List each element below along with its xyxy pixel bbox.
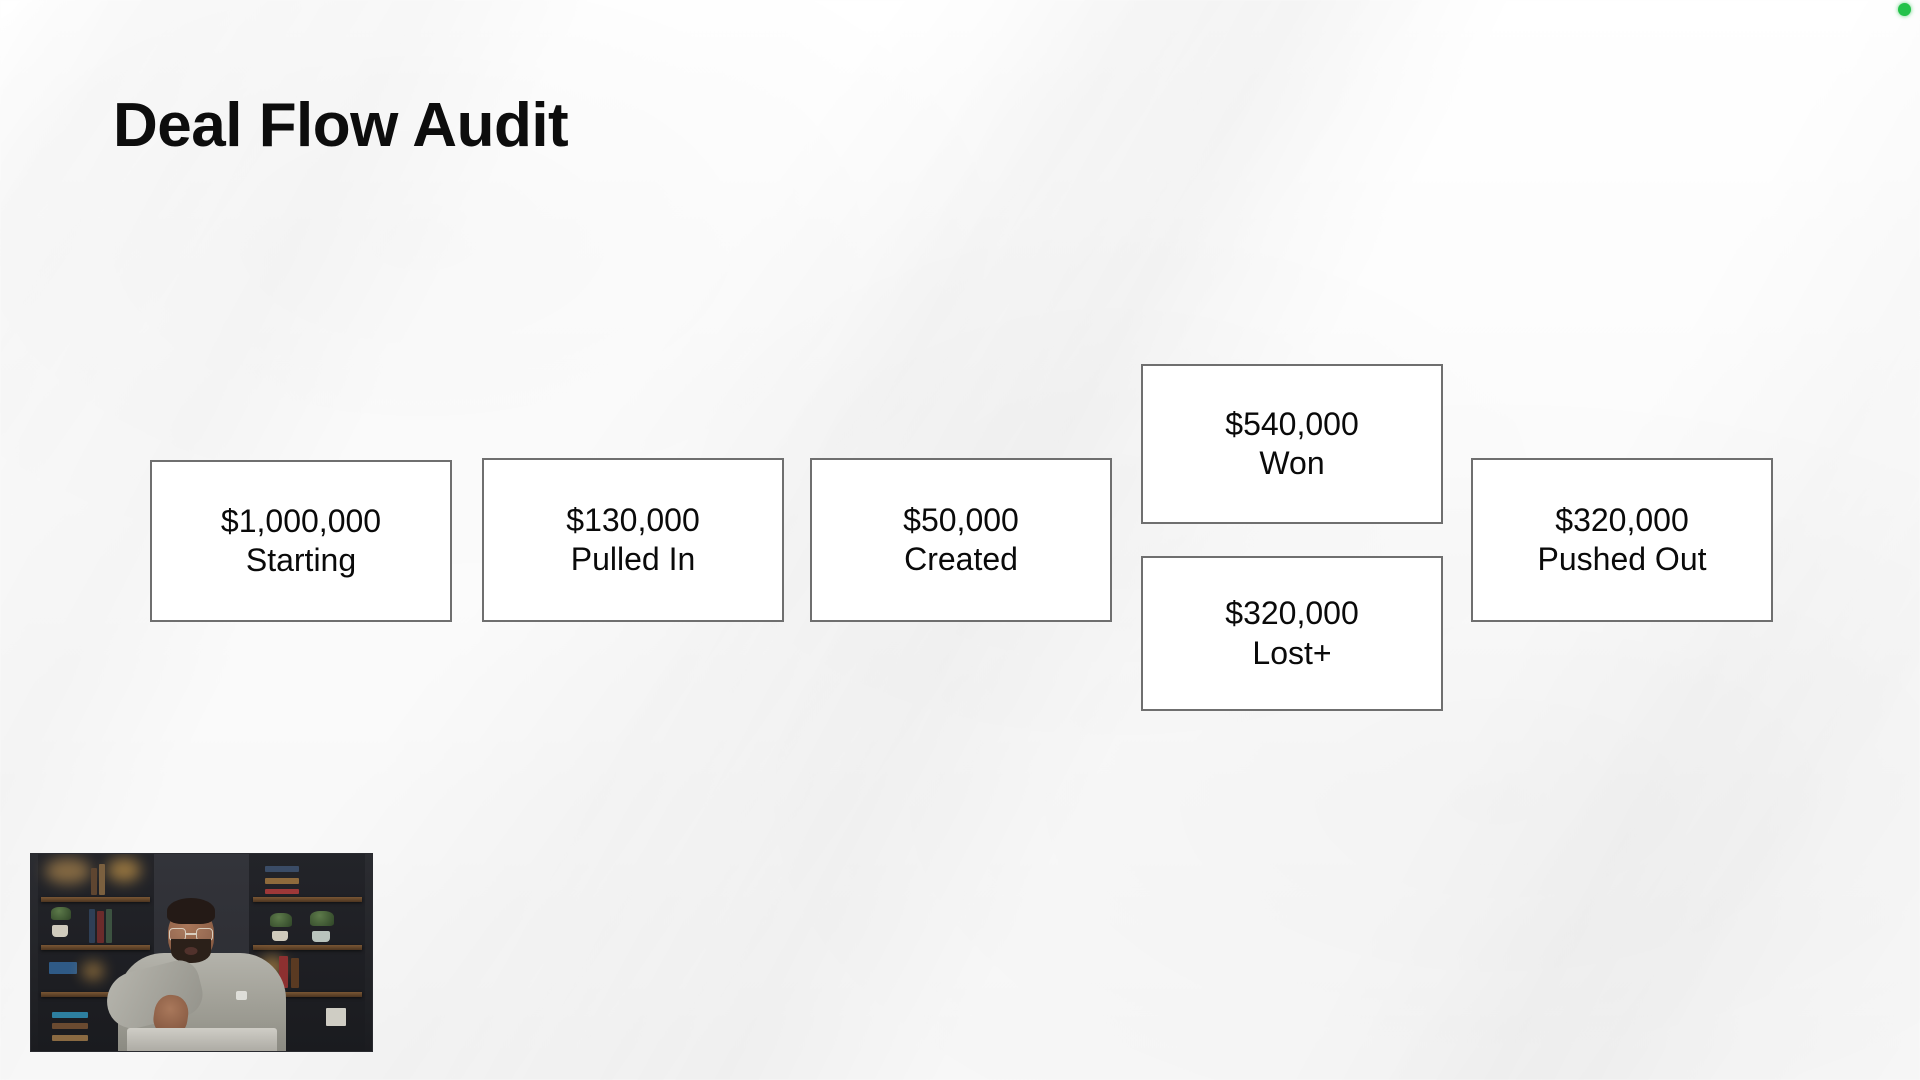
flow-label-pulled-in: Pulled In (571, 540, 696, 579)
shelf-book (99, 864, 105, 896)
flow-amount-pushed-out: $320,000 (1555, 501, 1688, 540)
flow-label-won: Won (1259, 444, 1324, 483)
slide-canvas: Deal Flow Audit $1,000,000 Starting $130… (0, 0, 1920, 1080)
flow-amount-pulled-in: $130,000 (566, 501, 699, 540)
shelf-book-stack (265, 889, 299, 894)
flow-label-starting: Starting (246, 541, 356, 580)
live-recording-indicator-dot (1898, 3, 1911, 16)
flow-amount-lost: $320,000 (1225, 594, 1358, 633)
laptop (127, 1028, 277, 1052)
shelf-plant-pot (312, 931, 330, 942)
shelf-picture-frame (49, 962, 77, 974)
flow-label-pushed-out: Pushed Out (1538, 540, 1707, 579)
flow-box-starting: $1,000,000 Starting (150, 460, 452, 622)
flow-box-won: $540,000 Won (1141, 364, 1443, 524)
shelf-book-stack (265, 866, 299, 872)
shelf-plant (51, 907, 71, 920)
flow-amount-created: $50,000 (903, 501, 1019, 540)
shelf-board (41, 945, 150, 950)
shelf-plant (310, 911, 334, 926)
webcam-video-frame (31, 854, 372, 1051)
shelf-book (97, 911, 104, 943)
flow-amount-won: $540,000 (1225, 405, 1358, 444)
shelf-book-stack (52, 1035, 88, 1041)
shelf-board (41, 897, 150, 902)
shelf-book-stack (52, 1023, 88, 1029)
shelf-plant-pot (272, 931, 288, 941)
flow-box-pulled-in: $130,000 Pulled In (482, 458, 784, 622)
flow-box-created: $50,000 Created (810, 458, 1112, 622)
sweatshirt-logo (236, 991, 247, 1000)
shelf-book (91, 868, 97, 896)
shelf-board (253, 897, 362, 902)
presenter-head (168, 907, 214, 961)
shelf-plant-pot (52, 925, 68, 937)
shelf-light-glow (82, 962, 104, 980)
shelf-book (106, 909, 112, 942)
flow-label-created: Created (904, 540, 1018, 579)
flow-box-pushed-out: $320,000 Pushed Out (1471, 458, 1773, 622)
webcam-overlay[interactable] (30, 853, 373, 1052)
shelf-object (326, 1008, 346, 1026)
flow-box-lost: $320,000 Lost+ (1141, 556, 1443, 711)
shelf-book-stack (52, 1012, 88, 1018)
shelf-plant (270, 913, 292, 927)
page-title: Deal Flow Audit (113, 92, 568, 160)
shelf-book (89, 909, 95, 942)
flow-amount-starting: $1,000,000 (221, 502, 381, 541)
shelf-book-stack (265, 878, 299, 884)
presenter-hair (167, 898, 215, 924)
shelf-book (291, 958, 299, 988)
presenter-mouth (185, 947, 198, 955)
shelf-light-glow (45, 858, 91, 884)
glasses-bridge (186, 933, 196, 935)
shelf-board (253, 945, 362, 950)
shelf-light-glow (107, 858, 141, 882)
flow-label-lost: Lost+ (1252, 634, 1331, 673)
